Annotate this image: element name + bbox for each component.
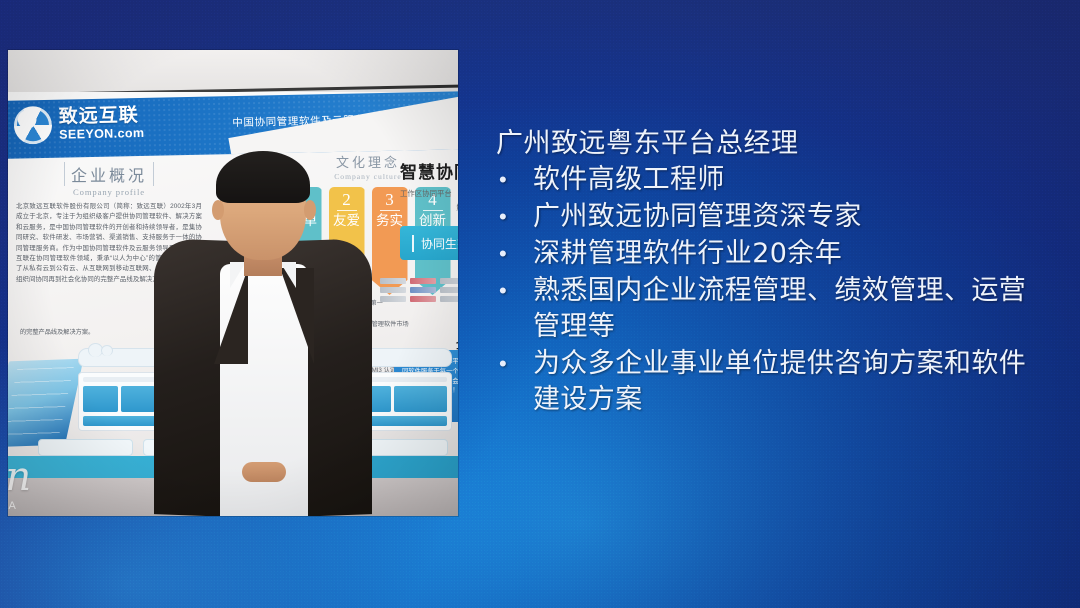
bullet-text: 为众多企业事业单位提供咨询方案和软件建设方案 bbox=[533, 346, 1036, 418]
seeyon-logo: 致远互联 SEEYON.com bbox=[14, 104, 145, 145]
partner-logo bbox=[410, 287, 436, 293]
photo-ceiling bbox=[8, 50, 458, 92]
smart-subtitle: 工作区协同平台 bbox=[400, 188, 458, 199]
bullet-text: 熟悉国内企业流程管理、绩效管理、运营管理等 bbox=[533, 273, 1036, 345]
smart-subtitle-2: 解决方案 bbox=[400, 202, 458, 213]
smart-ecosystem-button: 协同生态 bbox=[400, 226, 458, 260]
partner-logo bbox=[380, 287, 406, 293]
bullet-item: • 为众多企业事业单位提供咨询方案和软件建设方案 bbox=[496, 346, 1036, 418]
bullet-marker-icon: • bbox=[496, 273, 533, 309]
partner-logo bbox=[440, 287, 458, 293]
slide-text-column: 广州致远粤东平台总经理 • 软件高级工程师 • 广州致远协同管理资深专家 • 深… bbox=[496, 128, 1036, 419]
partner-logo bbox=[410, 278, 436, 284]
smart-heading: 智慧协同 bbox=[400, 158, 458, 183]
smart-ecosystem-button-label: 协同生态 bbox=[412, 235, 458, 252]
bullet-item: • 熟悉国内企业流程管理、绩效管理、运营管理等 bbox=[496, 273, 1036, 345]
bullet-marker-icon: • bbox=[496, 236, 533, 272]
panel-box bbox=[394, 386, 448, 412]
partner-logo bbox=[380, 296, 406, 302]
bullet-item: • 软件高级工程师 bbox=[496, 162, 1036, 198]
logo-english-name: SEEYON.com bbox=[59, 127, 145, 141]
hair bbox=[216, 151, 310, 203]
camera-watermark: een MERA bbox=[8, 457, 29, 512]
speaker-photo: 致远互联 SEEYON.com 中国协同管理软件及云服务领导厂商 企业概况 Co… bbox=[8, 50, 458, 516]
partner-logo bbox=[440, 278, 458, 284]
presentation-slide: 致远互联 SEEYON.com 中国协同管理软件及云服务领导厂商 企业概况 Co… bbox=[0, 0, 1080, 608]
bullet-marker-icon: • bbox=[496, 162, 533, 198]
bullet-item: • 广州致远协同管理资深专家 bbox=[496, 199, 1036, 235]
shirt-collar-right bbox=[280, 262, 296, 288]
camera-watermark-script: een bbox=[8, 457, 29, 497]
camera-watermark-subtitle: MERA bbox=[8, 500, 29, 512]
partner-logo bbox=[380, 278, 406, 284]
architecture-ribbon bbox=[8, 359, 84, 448]
culture-flag-number: 3 bbox=[380, 191, 400, 211]
bullet-text: 广州致远协同管理资深专家 bbox=[533, 199, 862, 235]
bullet-text: 深耕管理软件行业20余年 bbox=[533, 236, 842, 272]
ear-right bbox=[304, 200, 316, 220]
partner-logo bbox=[440, 296, 458, 302]
bullet-marker-icon: • bbox=[496, 346, 533, 382]
smart-collaboration-block: 智慧协同 工作区协同平台 解决方案 协同生态 bbox=[400, 158, 458, 260]
bullet-text: 软件高级工程师 bbox=[533, 162, 725, 198]
slide-title: 广州致远粤东平台总经理 bbox=[496, 128, 1036, 160]
bottom-chip bbox=[38, 439, 133, 456]
seeyon-logo-icon bbox=[14, 106, 53, 145]
bullet-item: • 深耕管理软件行业20余年 bbox=[496, 236, 1036, 272]
panel-box bbox=[121, 386, 156, 412]
company-profile-title: 企业概况 bbox=[64, 162, 154, 186]
speaker-figure bbox=[158, 156, 370, 516]
bullet-marker-icon: • bbox=[496, 199, 533, 235]
partner-logo bbox=[410, 296, 436, 302]
logo-chinese-name: 致远互联 bbox=[59, 106, 145, 127]
bullet-list: • 软件高级工程师 • 广州致远协同管理资深专家 • 深耕管理软件行业20余年 … bbox=[496, 162, 1036, 418]
ear-left bbox=[212, 200, 224, 220]
clasped-hands bbox=[242, 462, 286, 482]
panel-box bbox=[83, 386, 118, 412]
partner-logo-grid bbox=[380, 278, 458, 302]
backdrop-header-band: 致远互联 SEEYON.com 中国协同管理软件及云服务领导厂商 bbox=[8, 91, 458, 159]
